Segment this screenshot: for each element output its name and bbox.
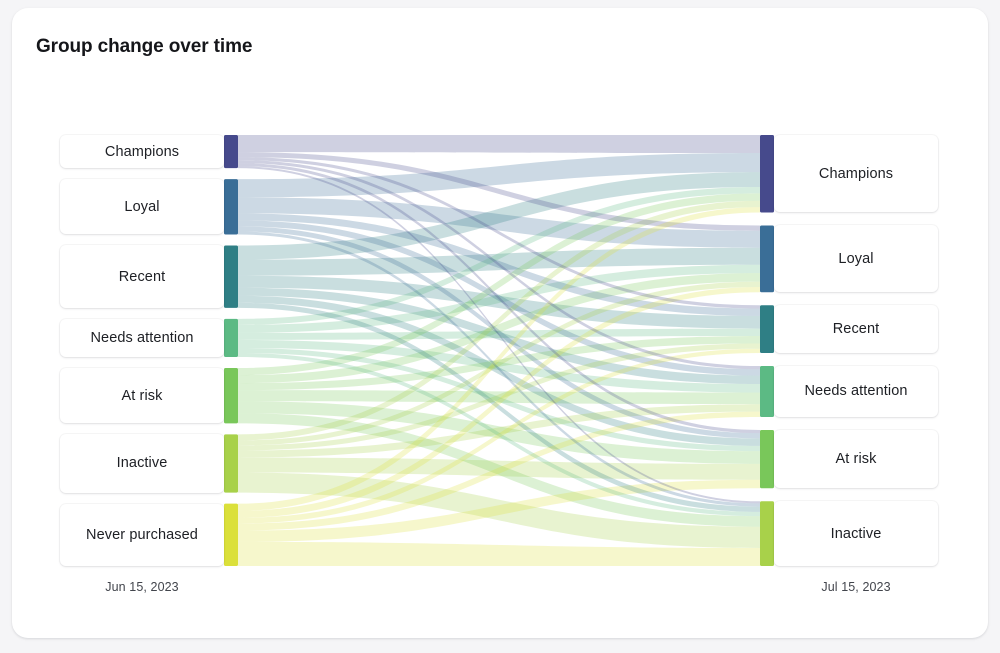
node-label-text: At risk [836, 451, 877, 467]
node-label-text: Recent [833, 321, 880, 337]
node-label-left-needs-attention[interactable]: Needs attention [60, 319, 224, 357]
node-label-left-loyal[interactable]: Loyal [60, 179, 224, 234]
node-label-left-never-purchased[interactable]: Never purchased [60, 504, 224, 566]
sankey-node-left-recent[interactable] [224, 245, 238, 307]
chart-card: Group change over time ChampionsLoyalRec… [12, 8, 988, 638]
node-label-text: Never purchased [86, 527, 198, 543]
sankey-node-right-loyal[interactable] [760, 225, 774, 292]
node-label-text: Loyal [124, 199, 159, 215]
axis-date-right: Jul 15, 2023 [774, 580, 938, 594]
node-label-text: Champions [819, 166, 893, 182]
node-label-text: Inactive [831, 526, 882, 542]
sankey-node-left-inactive[interactable] [224, 434, 238, 492]
sankey-node-right-inactive[interactable] [760, 501, 774, 566]
sankey-chart: ChampionsLoyalRecentNeeds attentionAt ri… [12, 8, 988, 638]
node-label-right-inactive[interactable]: Inactive [774, 501, 938, 566]
node-label-text: Recent [119, 269, 166, 285]
sankey-node-right-at-risk[interactable] [760, 430, 774, 488]
node-label-left-inactive[interactable]: Inactive [60, 434, 224, 492]
node-label-text: Needs attention [804, 383, 907, 399]
sankey-node-right-needs-attention[interactable] [760, 366, 774, 417]
node-label-left-recent[interactable]: Recent [60, 245, 224, 307]
node-label-left-at-risk[interactable]: At risk [60, 368, 224, 423]
node-label-right-recent[interactable]: Recent [774, 305, 938, 353]
node-label-text: At risk [122, 388, 163, 404]
node-label-right-needs-attention[interactable]: Needs attention [774, 366, 938, 417]
sankey-node-left-at-risk[interactable] [224, 368, 238, 423]
node-label-text: Loyal [838, 251, 873, 267]
sankey-link[interactable] [238, 135, 760, 153]
sankey-node-right-champions[interactable] [760, 135, 774, 212]
axis-date-left: Jun 15, 2023 [60, 580, 224, 594]
sankey-node-left-loyal[interactable] [224, 179, 238, 234]
node-label-text: Inactive [117, 455, 168, 471]
sankey-node-right-recent[interactable] [760, 305, 774, 353]
sankey-node-left-needs-attention[interactable] [224, 319, 238, 357]
node-label-right-at-risk[interactable]: At risk [774, 430, 938, 488]
node-label-text: Champions [105, 144, 179, 160]
sankey-node-left-never-purchased[interactable] [224, 504, 238, 566]
node-label-right-champions[interactable]: Champions [774, 135, 938, 212]
node-label-text: Needs attention [90, 330, 193, 346]
sankey-node-left-champions[interactable] [224, 135, 238, 168]
node-label-right-loyal[interactable]: Loyal [774, 225, 938, 292]
sankey-links [238, 135, 760, 566]
node-label-left-champions[interactable]: Champions [60, 135, 224, 168]
